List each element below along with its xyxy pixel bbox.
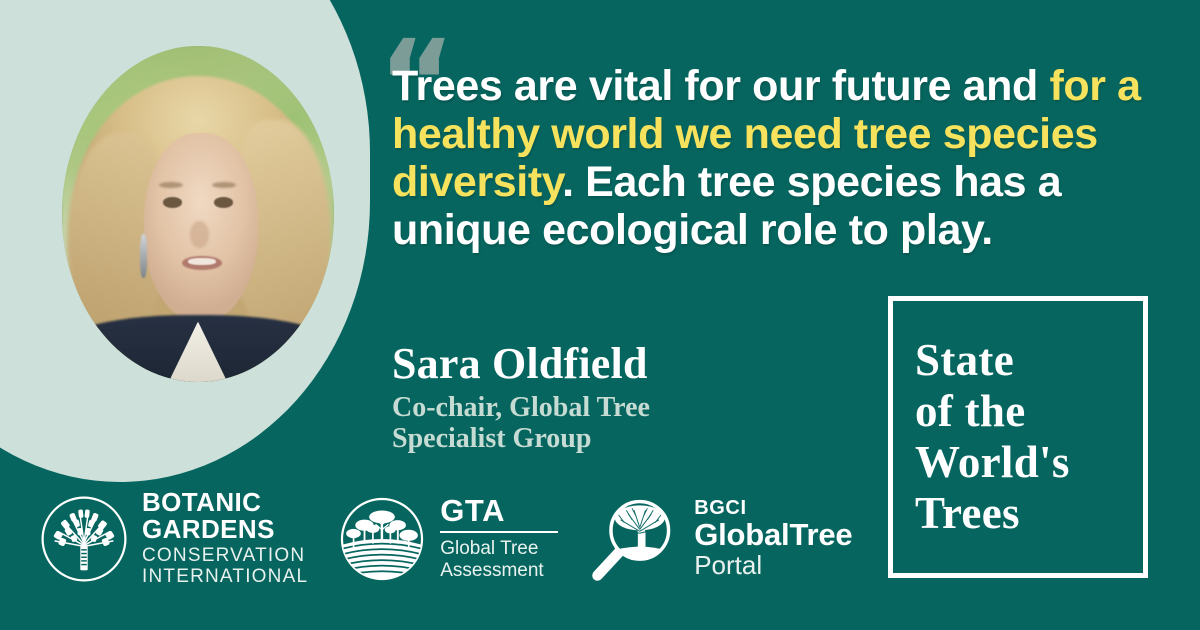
attribution: Sara Oldfield Co-chair, Global Tree Spec…	[392, 340, 650, 454]
bgci-line-2: GARDENS	[142, 516, 308, 543]
portrait-eye-right	[214, 197, 233, 207]
author-role-line-2: Specialist Group	[392, 423, 650, 454]
gta-trees-hill-circle-icon	[336, 493, 428, 585]
logo-globaltree-portal: BGCI GlobalTree Portal	[586, 491, 852, 587]
portal-line-2: GlobalTree	[694, 519, 852, 552]
portrait-nose	[190, 221, 209, 248]
bgci-tree-circle-icon	[38, 493, 130, 585]
portal-line-1: BGCI	[694, 498, 852, 519]
report-title-line-2: of the	[915, 386, 1070, 437]
logo-gta: GTA Global Tree Assessment	[336, 493, 558, 585]
report-title-line-4: Trees	[915, 488, 1070, 539]
gta-line-3: Assessment	[440, 560, 558, 582]
report-title-line-3: World's	[915, 437, 1070, 488]
bgci-line-1: BOTANIC	[142, 489, 308, 516]
portal-line-3: Portal	[694, 551, 852, 579]
gta-line-1: GTA	[440, 495, 558, 526]
magnifier-tree-icon	[586, 491, 682, 587]
portrait-earring	[140, 234, 147, 278]
author-name: Sara Oldfield	[392, 340, 650, 388]
quote-card: “ Trees are vital for our future and for…	[0, 0, 1200, 630]
portrait-eye-left	[163, 197, 182, 207]
bgci-wordmark: BOTANIC GARDENS CONSERVATION INTERNATION…	[142, 489, 308, 588]
logo-bgci: BOTANIC GARDENS CONSERVATION INTERNATION…	[38, 489, 308, 588]
bgci-line-4: INTERNATIONAL	[142, 567, 308, 588]
report-title-box: State of the World's Trees	[888, 296, 1148, 578]
gta-line-2: Global Tree	[440, 538, 558, 560]
quote-text: Trees are vital for our future and for a…	[392, 62, 1142, 255]
report-title: State of the World's Trees	[893, 335, 1070, 538]
quote-part-1: Trees are vital for our future and	[392, 62, 1049, 110]
bgci-line-3: CONSERVATION	[142, 546, 308, 567]
portrait-teeth	[188, 258, 215, 265]
globaltree-portal-wordmark: BGCI GlobalTree Portal	[694, 498, 852, 580]
author-role-line-1: Co-chair, Global Tree	[392, 392, 650, 423]
author-role: Co-chair, Global Tree Specialist Group	[392, 392, 650, 455]
logo-row: BOTANIC GARDENS CONSERVATION INTERNATION…	[38, 489, 852, 588]
gta-divider	[440, 531, 558, 533]
gta-wordmark: GTA Global Tree Assessment	[440, 495, 558, 581]
report-title-line-1: State	[915, 335, 1070, 386]
avatar	[62, 46, 334, 382]
